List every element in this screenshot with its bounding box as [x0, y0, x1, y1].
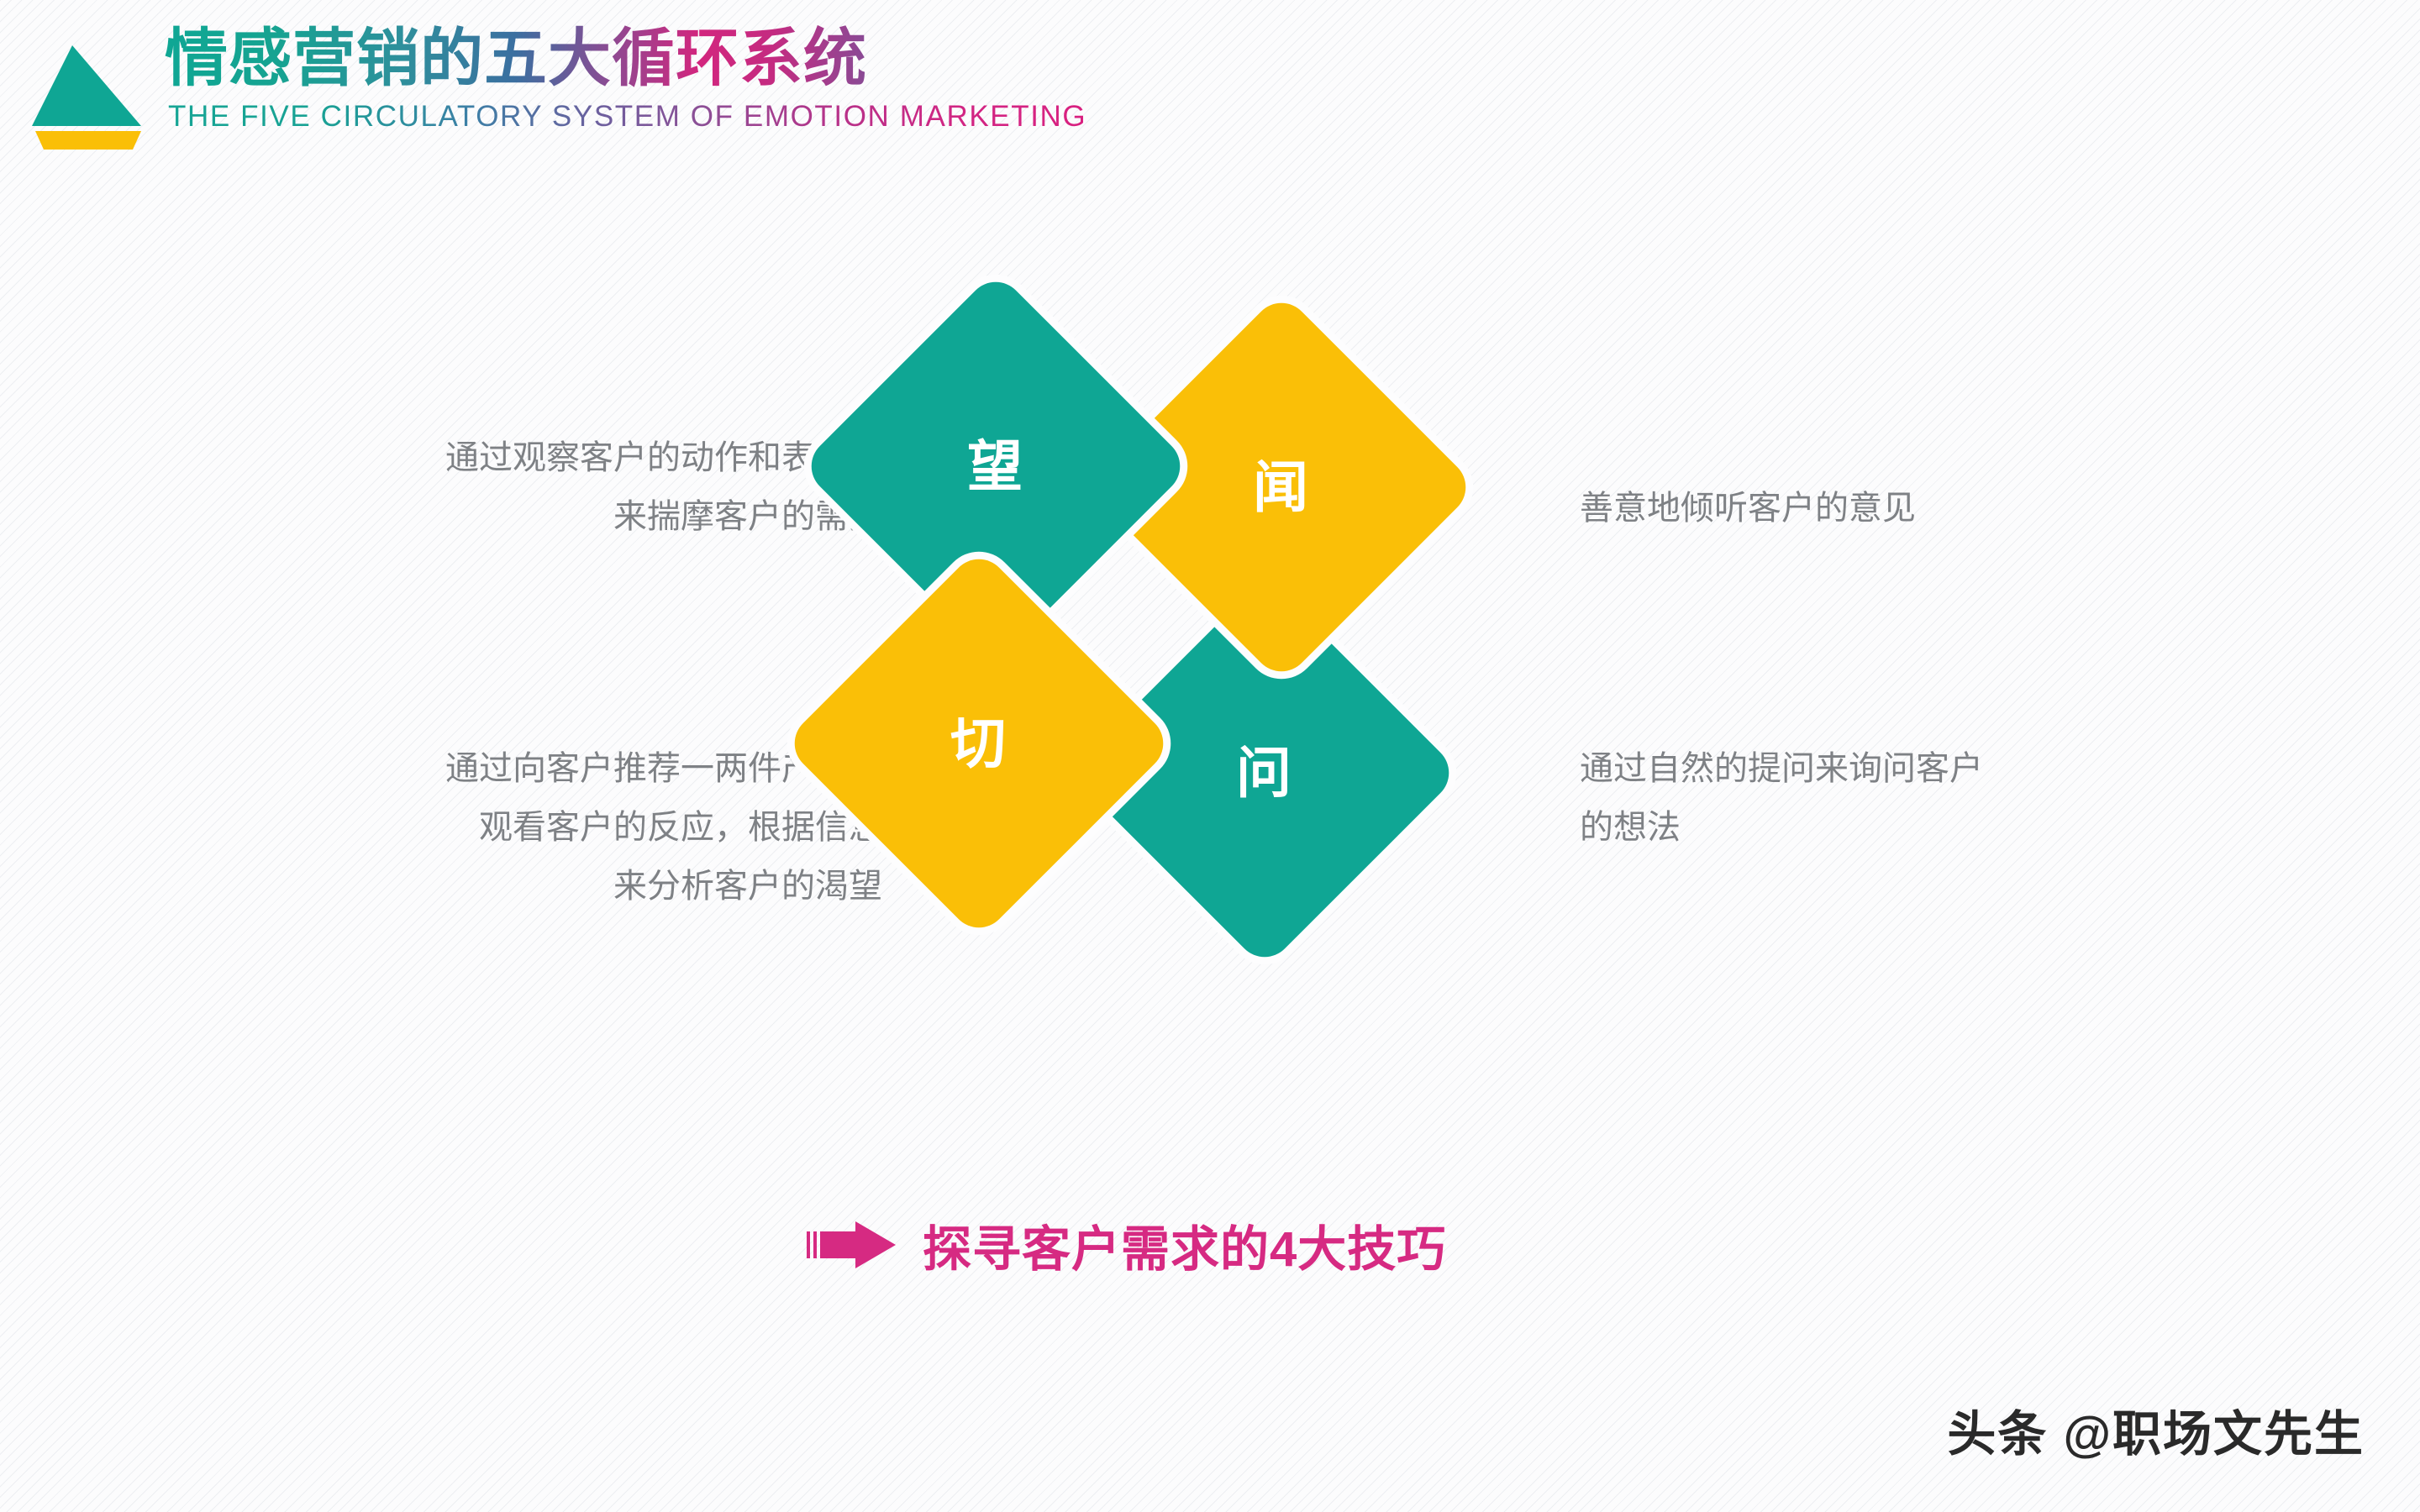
slide-canvas: 情感营销的五大循环系统 THE FIVE CIRCULATORY SYSTEM … — [0, 0, 2420, 1512]
diamond-label-wen2: 问 — [1236, 745, 1293, 801]
page-subtitle: THE FIVE CIRCULATORY SYSTEM OF EMOTION M… — [168, 100, 1086, 134]
page-title: 情感营销的五大循环系统 — [165, 25, 1086, 92]
caption-label: 探寻客户需求的4大技巧 — [923, 1210, 1446, 1280]
description-top-left: 通过观察客户的动作和表情， 来揣摩客户的需要 — [151, 428, 882, 546]
diamond-label-wen: 闻 — [1253, 459, 1310, 515]
description-bottom-right: 通过自然的提问来询问客户 的想法 — [1580, 739, 2218, 857]
slide-header: 情感营销的五大循环系统 THE FIVE CIRCULATORY SYSTEM … — [0, 0, 2420, 176]
footer-caption: 探寻客户需求的4大技巧 — [807, 1210, 1446, 1280]
description-bottom-left: 通过向客户推荐一两件产品， 观看客户的反应，根据信息 来分析客户的渴望 — [151, 739, 882, 916]
description-top-right: 善意地倾听客户的意见 — [1580, 479, 2277, 538]
four-diamond-diagram: 望 闻 切 问 — [857, 328, 1597, 1008]
right-arrow-icon — [807, 1218, 901, 1272]
title-block: 情感营销的五大循环系统 THE FIVE CIRCULATORY SYSTEM … — [165, 25, 1086, 134]
triangle-logo-icon — [24, 32, 150, 150]
diamond-label-wang: 望 — [967, 438, 1024, 494]
diamond-label-qie: 切 — [950, 716, 1007, 771]
watermark: 头条 @职场文先生 — [1947, 1394, 2365, 1465]
